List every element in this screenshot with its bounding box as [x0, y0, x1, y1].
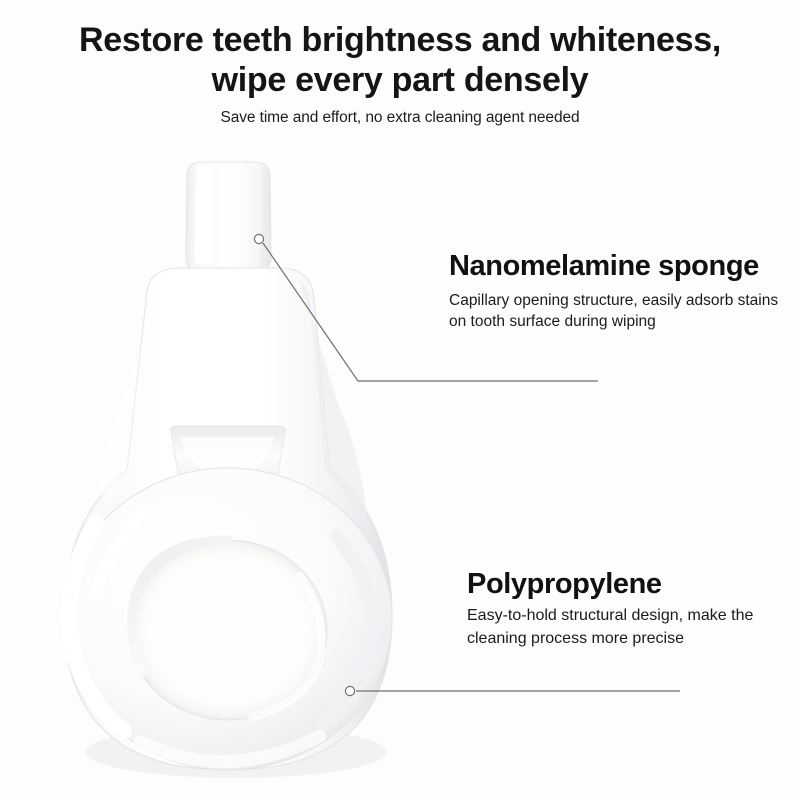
- callout-polypropylene: Polypropylene Easy-to-hold structural de…: [467, 567, 787, 650]
- callout-polypropylene-description: Easy-to-hold structural design, make the…: [467, 604, 787, 650]
- infographic-canvas: Restore teeth brightness and whiteness, …: [0, 0, 800, 800]
- callout-sponge-description: Capillary opening structure, easily adso…: [449, 290, 779, 332]
- product-illustration: [0, 0, 800, 800]
- callout-polypropylene-title: Polypropylene: [467, 567, 787, 601]
- melamine-sponge-tip: [186, 162, 271, 271]
- callout-sponge-title: Nanomelamine sponge: [449, 250, 779, 283]
- callout-sponge: Nanomelamine sponge Capillary opening st…: [449, 250, 779, 332]
- finger-ring: [64, 468, 392, 770]
